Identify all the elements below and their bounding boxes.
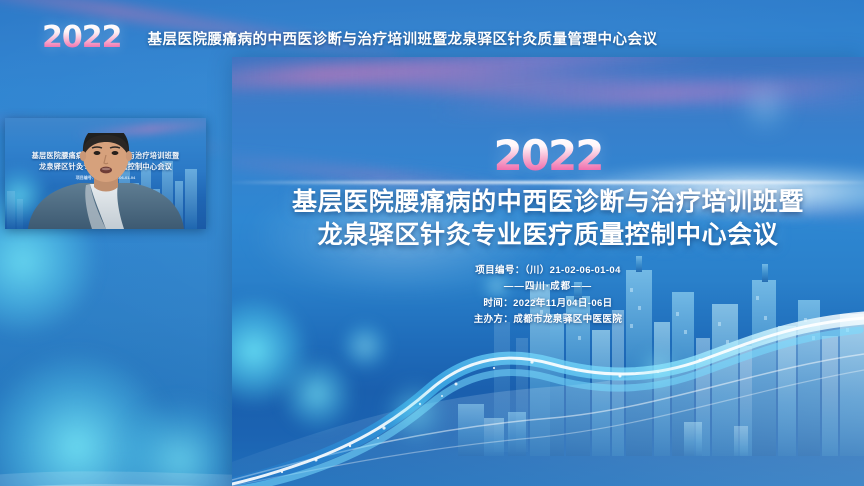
webcam-video-tile[interactable]: 基层医院腰痛病的中西医诊断与治疗培训班暨 龙泉驿区针灸专业医疗质量控制中心会议 …	[5, 118, 206, 229]
slide-organizer: 主办方：成都市龙泉驿区中医医院	[232, 312, 864, 328]
slide-year-logo: 2022	[232, 135, 864, 177]
slide-title-line-1: 基层医院腰痛病的中西医诊断与治疗培训班暨	[232, 186, 864, 219]
slide-title: 基层医院腰痛病的中西医诊断与治疗培训班暨 龙泉驿区针灸专业医疗质量控制中心会议	[232, 186, 864, 251]
screen-share-canvas: 2022 基层医院腰痛病的中西医诊断与治疗培训班暨龙泉驿区针灸质量管理中心会议	[0, 0, 864, 486]
slide-region: ——四川·成都——	[232, 279, 864, 295]
slide-date: 时间：2022年11月04日-06日	[232, 296, 864, 312]
webcam-speaker	[6, 133, 206, 229]
slide-text-block: 2022 基层医院腰痛病的中西医诊断与治疗培训班暨 龙泉驿区针灸专业医疗质量控制…	[232, 135, 864, 328]
slide-title-line-2: 龙泉驿区针灸专业医疗质量控制中心会议	[232, 219, 864, 252]
slide-project-number: 项目编号：（川）21-02-06-01-04	[232, 263, 864, 279]
slide-meta-block: 项目编号：（川）21-02-06-01-04 ——四川·成都—— 时间：2022…	[232, 263, 864, 328]
presentation-slide[interactable]: 2022 基层医院腰痛病的中西医诊断与治疗培训班暨 龙泉驿区针灸专业医疗质量控制…	[232, 57, 864, 486]
